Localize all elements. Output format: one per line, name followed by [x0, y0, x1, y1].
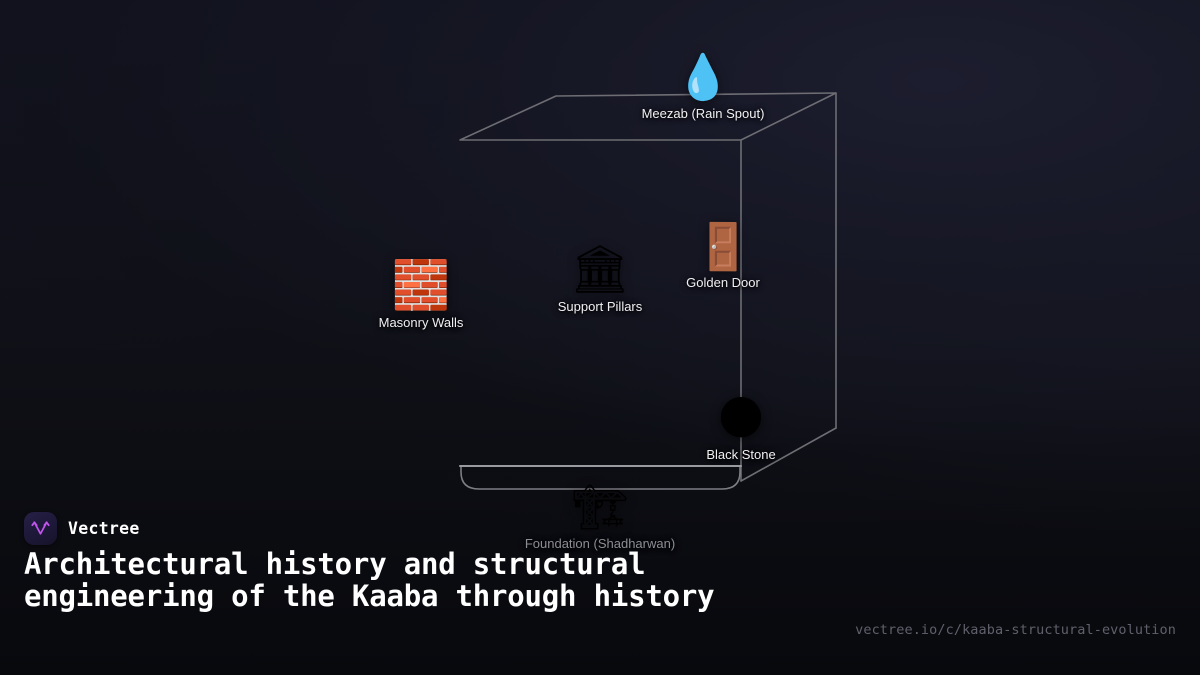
node-label: Golden Door [686, 275, 760, 290]
brick-wall-icon: 🧱 [392, 262, 451, 309]
door-icon: 🚪 [695, 224, 751, 269]
source-url: vectree.io/c/kaaba-structural-evolution [855, 622, 1176, 638]
page-title: Architectural history and structural eng… [24, 548, 844, 612]
classical-building-icon: 🏛 [570, 246, 630, 293]
brand-lockup[interactable]: Vectree [24, 512, 140, 545]
node-label: Meezab (Rain Spout) [642, 106, 765, 121]
node-support-pillars[interactable]: 🏛 Support Pillars [558, 246, 643, 314]
node-meezab[interactable]: 💧 Meezab (Rain Spout) [642, 56, 765, 121]
water-droplet-icon: 💧 [676, 56, 731, 100]
node-masonry-walls[interactable]: 🧱 Masonry Walls [379, 262, 464, 330]
new-moon-icon: 🌑 [717, 395, 765, 441]
node-black-stone[interactable]: 🌑 Black Stone [706, 395, 775, 462]
node-label: Support Pillars [558, 299, 643, 314]
node-label: Black Stone [706, 447, 775, 462]
presentation-canvas: 💧 Meezab (Rain Spout) 🧱 Masonry Walls 🏛 … [0, 0, 1200, 675]
brand-name: Vectree [68, 519, 140, 538]
node-foundation[interactable]: 🏗 Foundation (Shadharwan) [525, 486, 675, 551]
vectree-v-tree-logo-icon [24, 512, 57, 545]
node-golden-door[interactable]: 🚪 Golden Door [686, 224, 760, 290]
construction-crane-icon: 🏗 [572, 486, 628, 530]
node-label: Masonry Walls [379, 315, 464, 330]
